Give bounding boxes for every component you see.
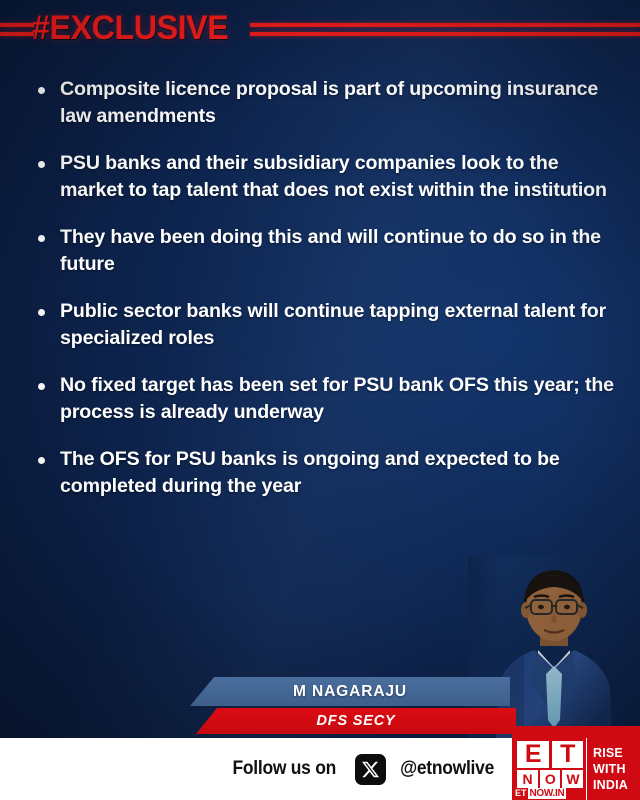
follow-us-label: Follow us on	[233, 758, 337, 780]
bullet-dot-icon	[38, 235, 45, 242]
follow-us-group: Follow us on @etnowlive	[0, 738, 512, 800]
logo-letter-w: W	[562, 770, 583, 788]
x-twitter-icon[interactable]	[355, 754, 386, 785]
tagline-line-1: RISE	[593, 745, 640, 761]
logo-letter-e: E	[517, 741, 549, 768]
header: #EXCLUSIVE	[0, 0, 640, 60]
etnow-domain-suffix: NOW.IN	[528, 788, 567, 799]
bullet-dot-icon	[38, 457, 45, 464]
logo-letter-o: O	[540, 770, 561, 788]
etnow-logo-now-row: N O W	[517, 770, 583, 788]
bullet-text: No fixed target has been set for PSU ban…	[60, 372, 620, 426]
logo-letter-n: N	[517, 770, 538, 788]
etnow-logo-et-row: E T	[517, 741, 583, 768]
etnow-logo: E T N O W ET NOW.IN RISE WITH INDIA	[512, 738, 640, 800]
bullet-text: The OFS for PSU banks is ongoing and exp…	[60, 446, 620, 500]
etnow-domain-prefix: ET	[514, 788, 528, 799]
speaker-designation: DFS SECY	[317, 713, 396, 729]
list-item: They have been doing this and will conti…	[30, 224, 620, 278]
list-item: No fixed target has been set for PSU ban…	[30, 372, 620, 426]
x-handle-text[interactable]: @etnowlive	[400, 758, 494, 780]
speaker-name: M NAGARAJU	[293, 683, 407, 701]
bullet-text: Composite licence proposal is part of up…	[60, 76, 620, 130]
bullet-dot-icon	[38, 309, 45, 316]
list-item: Composite licence proposal is part of up…	[30, 76, 620, 130]
logo-letter-t: T	[552, 741, 584, 768]
bullet-dot-icon	[38, 383, 45, 390]
list-item: PSU banks and their subsidiary companies…	[30, 150, 620, 204]
header-rule-right-bottom	[250, 32, 640, 36]
header-rule-left-top	[0, 23, 34, 27]
etnow-tagline: RISE WITH INDIA	[587, 738, 640, 800]
footer-bar: Follow us on @etnowlive E T N O W	[0, 738, 640, 800]
header-rule-left-bottom	[0, 32, 34, 36]
etnow-logo-mark: E T N O W ET NOW.IN	[512, 738, 587, 800]
list-item: The OFS for PSU banks is ongoing and exp…	[30, 446, 620, 500]
bullet-text: PSU banks and their subsidiary companies…	[60, 150, 620, 204]
bullet-list: Composite licence proposal is part of up…	[30, 76, 620, 520]
speaker-designation-banner: DFS SECY	[196, 708, 516, 734]
header-rule-right-top	[250, 23, 640, 27]
tagline-line-3: INDIA	[593, 777, 640, 793]
bullet-text: They have been doing this and will conti…	[60, 224, 620, 278]
tagline-line-2: WITH	[593, 761, 640, 777]
speaker-name-banner: M NAGARAJU	[190, 677, 510, 706]
logo-red-sliver	[512, 726, 640, 738]
list-item: Public sector banks will continue tappin…	[30, 298, 620, 352]
exclusive-tag: #EXCLUSIVE	[32, 7, 228, 49]
bullet-dot-icon	[38, 161, 45, 168]
exclusive-news-card: #EXCLUSIVE Composite licence proposal is…	[0, 0, 640, 800]
bullet-text: Public sector banks will continue tappin…	[60, 298, 620, 352]
bullet-dot-icon	[38, 87, 45, 94]
etnow-domain: ET NOW.IN	[514, 788, 585, 799]
